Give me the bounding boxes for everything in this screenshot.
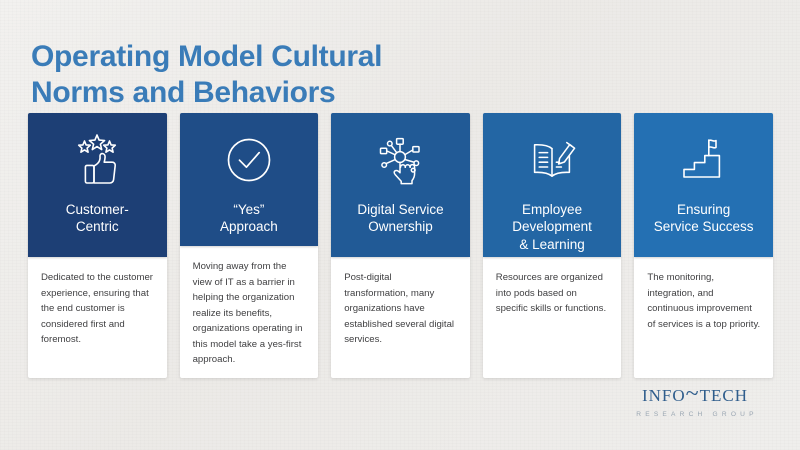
thumbs-up-stars-icon: [66, 123, 128, 197]
book-pencil-icon: [522, 123, 582, 197]
card-title-line-3: & Learning: [519, 237, 584, 252]
card-body: Dedicated to the customer experience, en…: [28, 257, 167, 378]
logo-wordmark: Info~Tech: [615, 382, 775, 406]
norms-card-row: Customer- Centric Dedicated to the custo…: [28, 113, 773, 378]
page-title: Operating Model Cultural Norms and Behav…: [31, 39, 551, 111]
page-title-line-1: Operating Model Cultural: [31, 39, 551, 75]
card-description: Post-digital transformation, many organi…: [344, 270, 458, 348]
card-header: “Yes” Approach: [180, 113, 319, 246]
norm-card-digital-service-ownership[interactable]: Digital Service Ownership Post-digital t…: [331, 113, 470, 378]
card-title-line-1: “Yes”: [233, 202, 264, 217]
card-title-line-2: Development: [512, 219, 592, 234]
card-title: Employee Development & Learning: [506, 201, 598, 253]
card-description: Dedicated to the customer experience, en…: [41, 270, 155, 348]
card-body: The monitoring, integration, and continu…: [634, 257, 773, 378]
card-header: Customer- Centric: [28, 113, 167, 257]
card-title-line-1: Ensuring: [677, 202, 730, 217]
stairs-flag-icon: [675, 123, 733, 197]
company-logo: Info~Tech RESEARCH GROUP: [615, 382, 775, 418]
card-title-line-2: Ownership: [368, 219, 433, 234]
card-title-line-2: Centric: [76, 219, 119, 234]
network-hand-icon: [370, 123, 430, 197]
norm-card-employee-development[interactable]: Employee Development & Learning Resource…: [483, 113, 622, 378]
norm-card-customer-centric[interactable]: Customer- Centric Dedicated to the custo…: [28, 113, 167, 378]
card-description: Resources are organized into pods based …: [496, 270, 610, 317]
check-circle-icon: [220, 123, 278, 197]
card-body: Post-digital transformation, many organi…: [331, 257, 470, 378]
card-header: Ensuring Service Success: [634, 113, 773, 257]
page-title-line-2: Norms and Behaviors: [31, 75, 551, 111]
card-body: Resources are organized into pods based …: [483, 257, 622, 378]
card-body: Moving away from the view of IT as a bar…: [180, 246, 319, 378]
norm-card-ensuring-service-success[interactable]: Ensuring Service Success The monitoring,…: [634, 113, 773, 378]
card-title-line-1: Digital Service: [357, 202, 443, 217]
card-title: Ensuring Service Success: [648, 201, 760, 236]
card-title-line-1: Employee: [522, 202, 582, 217]
card-title: “Yes” Approach: [214, 201, 284, 236]
card-title: Digital Service Ownership: [351, 201, 449, 236]
logo-tagline: RESEARCH GROUP: [615, 411, 775, 418]
card-description: The monitoring, integration, and continu…: [647, 270, 761, 332]
card-title-line-1: Customer-: [66, 202, 129, 217]
card-header: Employee Development & Learning: [483, 113, 622, 257]
card-title: Customer- Centric: [60, 201, 135, 236]
card-header: Digital Service Ownership: [331, 113, 470, 257]
card-title-line-2: Service Success: [654, 219, 754, 234]
norm-card-yes-approach[interactable]: “Yes” Approach Moving away from the view…: [180, 113, 319, 378]
card-title-line-2: Approach: [220, 219, 278, 234]
card-description: Moving away from the view of IT as a bar…: [193, 259, 307, 368]
